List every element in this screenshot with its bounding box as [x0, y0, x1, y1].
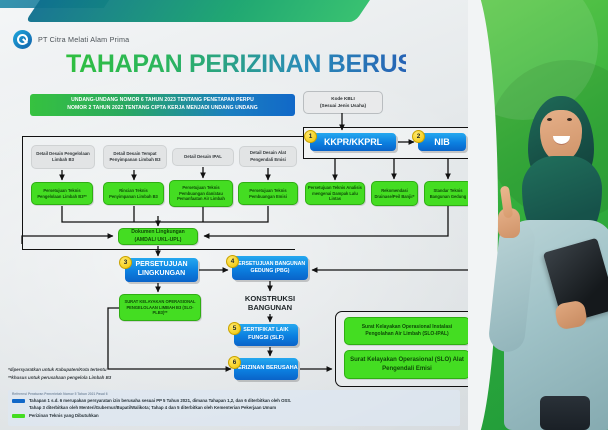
slo-emisi-box[interactable]: Surat Kelayakan Operasional (SLO) Alat P…: [344, 350, 470, 379]
teknis-box-6[interactable]: Standar Teknis Bangunan Gedung: [424, 181, 472, 206]
eye-right: [567, 118, 572, 121]
detail-cluster-frame-top: [22, 136, 304, 137]
presenter-figure: [496, 96, 608, 430]
footnote-1: *dipersyaratkan untuk Kabupaten/Kota ter…: [8, 366, 308, 374]
kbli-note: Kode KBLI (Sesuai Jenis Usaha): [303, 91, 383, 114]
step-1-badge: 1: [304, 130, 317, 143]
company-name: PT Citra Melati Alam Prima: [38, 35, 129, 44]
step-5-slf-box[interactable]: SERTIFIKAT LAIK FUNGSI (SLF): [234, 324, 298, 346]
step-3-persetujuan-lingkungan-box[interactable]: PERSETUJUAN LINGKUNGAN: [125, 258, 198, 282]
law-banner-line1: UNDANG-UNDANG NOMOR 6 TAHUN 2023 TENTANG…: [71, 97, 254, 105]
teknis-box-4[interactable]: Persetujuan Teknis Analisis mengenai Dam…: [305, 182, 365, 205]
kbli-note-line2: (Sesuai Jenis Usaha): [320, 103, 366, 110]
page-title: TAHAPAN PERIZINAN BERUSAHA: [66, 50, 406, 79]
presenter-photo-panel: [468, 0, 608, 430]
law-banner: UNDANG-UNDANG NOMOR 6 TAHUN 2023 TENTANG…: [30, 94, 295, 116]
legs: [540, 396, 590, 430]
teknis-box-2[interactable]: Persetujuan Teknis Pembuangan dan/atau P…: [169, 180, 233, 207]
detail-box-2[interactable]: Detail Desain IPAL: [172, 148, 234, 166]
legend-text-1-line1: Perizinan Teknis yang Dibutuhkan: [29, 413, 99, 420]
step-5-badge: 5: [228, 322, 241, 335]
legend-item-0: Tahapan 1 s.d. 6 merupakan persyaratan i…: [12, 398, 456, 411]
legend: Referensi Peraturan Pemerintah Nomor 5 T…: [8, 390, 460, 426]
detail-box-1[interactable]: Detail Desain Tempat Penyimpanan Limbah …: [103, 145, 167, 169]
step-4-badge: 4: [226, 255, 239, 268]
circle-swirl-logo-icon: [13, 30, 32, 49]
teknis-box-5[interactable]: Rekomendasi Drainase/Peil Banjir*: [371, 181, 418, 206]
footnotes: *dipersyaratkan untuk Kabupaten/Kota ter…: [8, 366, 308, 382]
step-2-badge: 2: [412, 130, 425, 143]
legend-swatch-green: [12, 414, 25, 418]
decorative-swoosh-top: [25, 0, 393, 22]
slo-ipal-box[interactable]: Surat Kelayakan Operasional Instalasi Pe…: [344, 317, 470, 345]
poster-canvas: PT Citra Melati Alam Prima TAHAPAN PERIZ…: [0, 0, 608, 430]
step-1-kkpr-box[interactable]: KKPR/KKPRL: [310, 133, 396, 151]
teknis-box-1[interactable]: Rincian Teknis Penyimpanan Limbah B3: [103, 182, 164, 205]
teknis-box-3[interactable]: Persetujuan Teknis Pembuangan Emisi: [238, 182, 298, 205]
step-6-badge: 6: [228, 356, 241, 369]
eye-left: [547, 118, 552, 121]
brand-block: PT Citra Melati Alam Prima: [13, 30, 129, 49]
step-4-pbg-box[interactable]: PERSETUJUAN BANGUNAN GEDUNG (PBG): [232, 256, 308, 280]
legend-text-0-line1: Tahapan 1 s.d. 6 merupakan persyaratan i…: [29, 398, 291, 405]
legend-header: Referensi Peraturan Pemerintah Nomor 5 T…: [12, 392, 456, 397]
dokumen-lingkungan-box[interactable]: Dokumen Lingkungan (AMDAL/ UKL-UPL): [118, 228, 198, 245]
footnote-2: **khusus untuk perusahaan pengelola Limb…: [8, 374, 308, 382]
kbli-note-line1: Kode KBLI: [331, 96, 354, 103]
detail-box-0[interactable]: Detail Desain Pengelolaan Limbah B3: [31, 145, 95, 169]
teknis-box-0[interactable]: Persetujuan Teknis Pengelolaan Limbah B3…: [31, 182, 93, 205]
law-banner-line2: NOMOR 2 TAHUN 2022 TENTANG CIPTA KERJA M…: [67, 105, 258, 113]
legend-swatch-blue: [12, 399, 25, 403]
step-3-badge: 3: [119, 256, 132, 269]
step-2-nib-box[interactable]: NIB: [418, 133, 466, 151]
konstruksi-bangunan-text: KONSTRUKSI BANGUNAN: [232, 292, 308, 314]
legend-item-1: Perizinan Teknis yang Dibutuhkan: [12, 413, 456, 420]
slo-plb3-box[interactable]: SURAT KELAYAKAN OPERASIONAL PENGELOLAAN …: [119, 294, 201, 321]
legend-text-0-line2: Tahap 3 diterbitkan oleh Menteri/Gubernu…: [29, 405, 291, 412]
detail-box-3[interactable]: Detail Desain Alat Pengendali Emisi: [239, 146, 297, 167]
